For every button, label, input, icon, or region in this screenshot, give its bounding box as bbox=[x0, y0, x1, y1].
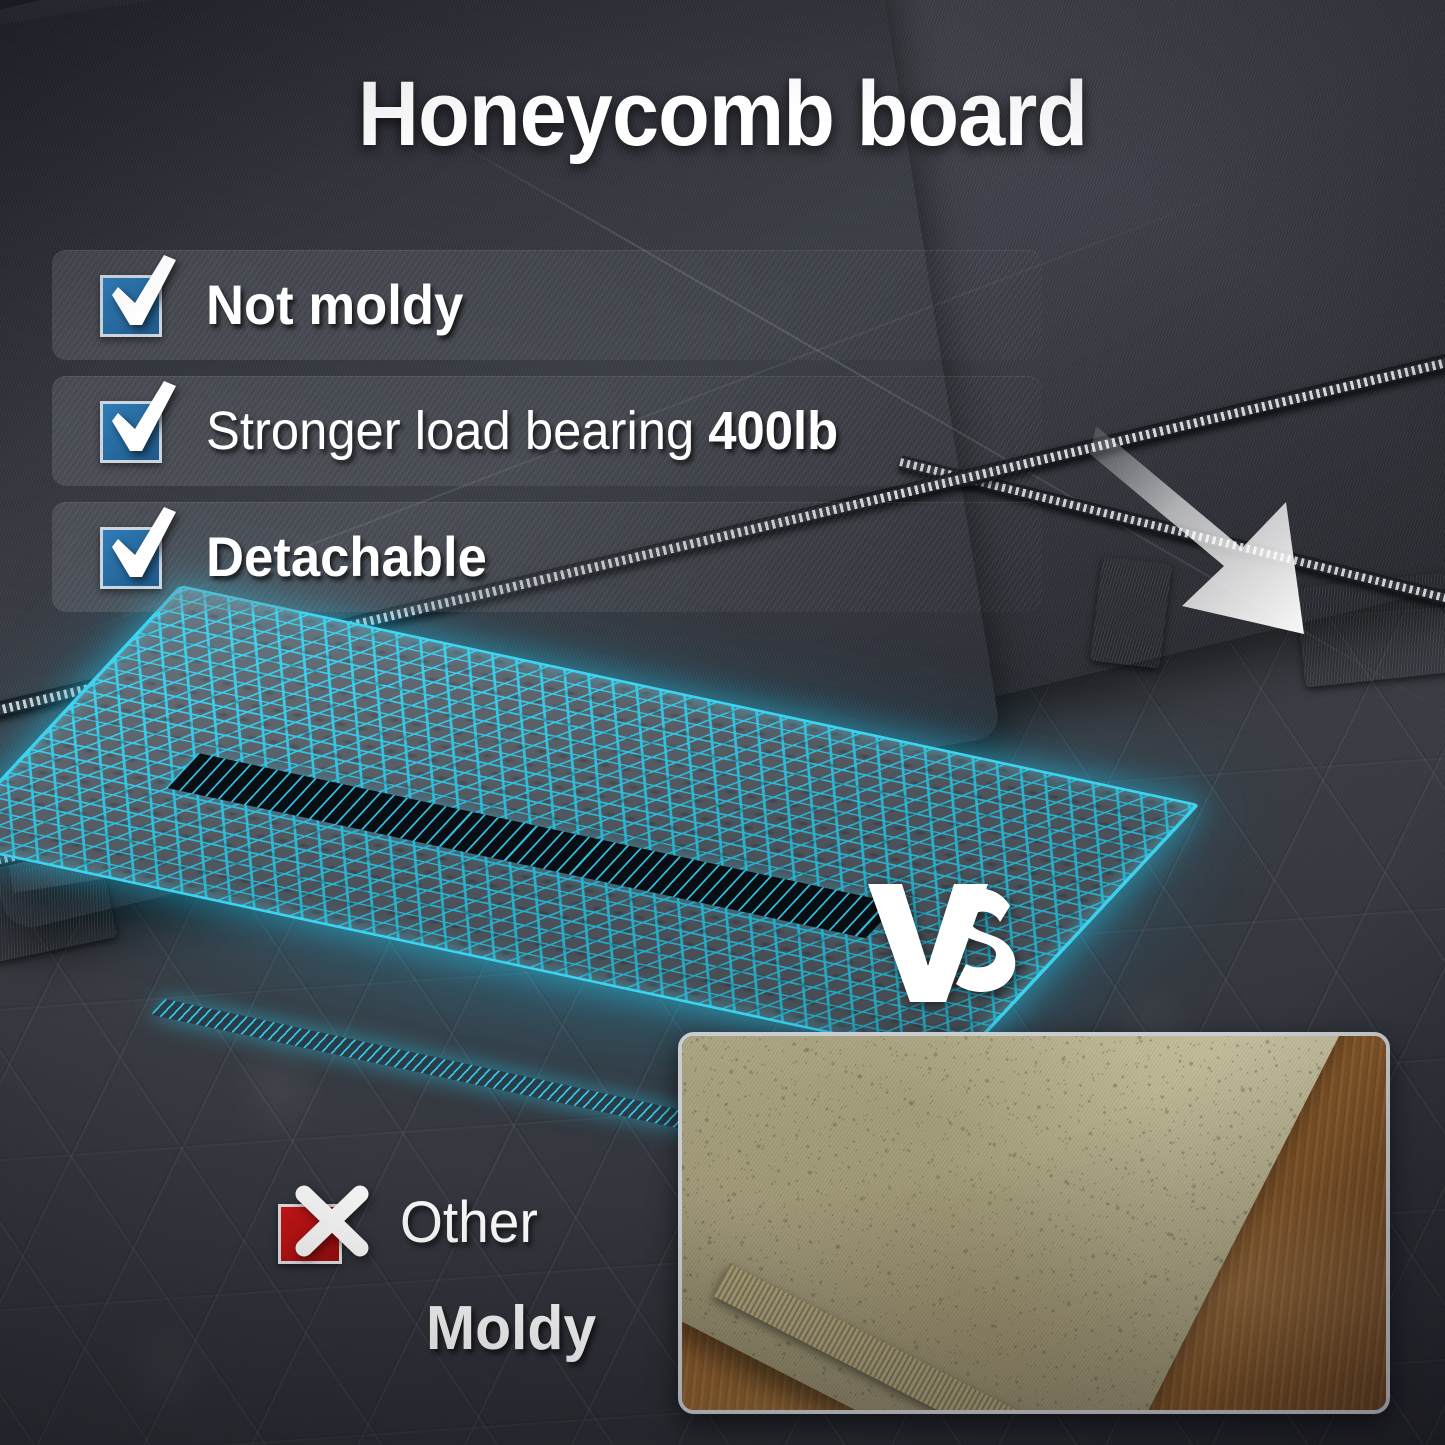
moldy-label: Moldy bbox=[426, 1298, 694, 1360]
feature-label-text: Stronger load bearing bbox=[206, 401, 708, 461]
bag-handle-strap bbox=[1090, 556, 1172, 669]
product-infographic: Honeycomb board Not moldy Stronger load … bbox=[0, 0, 1445, 1445]
feature-row-detachable[interactable]: Detachable bbox=[52, 502, 1042, 612]
feature-label-emphasis: 400lb bbox=[708, 401, 838, 461]
moldy-board-photo bbox=[678, 1032, 1390, 1414]
versus-badge bbox=[862, 880, 1022, 1005]
check-square-icon bbox=[100, 521, 172, 593]
x-square-icon bbox=[278, 1190, 374, 1280]
check-square-icon bbox=[100, 395, 172, 467]
check-square-icon bbox=[100, 269, 172, 341]
checkmark-icon bbox=[104, 379, 182, 461]
other-moldy-caption: Other Moldy bbox=[278, 1190, 708, 1360]
other-label: Other bbox=[400, 1194, 538, 1252]
checkmark-icon bbox=[104, 505, 182, 587]
feature-label: Not moldy bbox=[206, 277, 463, 333]
feature-row-not-moldy[interactable]: Not moldy bbox=[52, 250, 1042, 360]
feature-list: Not moldy Stronger load bearing 400lb De… bbox=[52, 250, 1042, 628]
page-title: Honeycomb board bbox=[58, 62, 1387, 167]
other-row: Other bbox=[278, 1190, 708, 1280]
cross-icon bbox=[290, 1182, 380, 1268]
feature-label: Detachable bbox=[206, 529, 487, 585]
feature-label: Stronger load bearing 400lb bbox=[206, 404, 838, 458]
checkmark-icon bbox=[104, 253, 182, 335]
feature-row-load-bearing[interactable]: Stronger load bearing 400lb bbox=[52, 376, 1042, 486]
